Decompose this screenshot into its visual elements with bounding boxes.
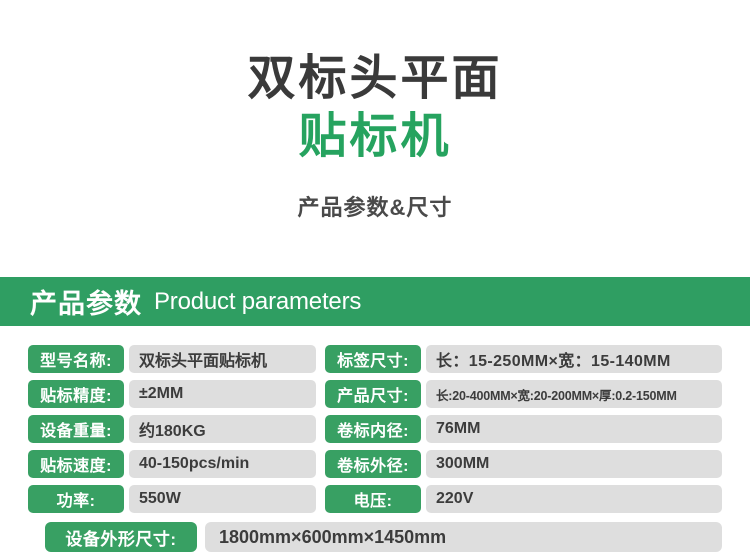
product-title-line-2: 贴标机	[0, 110, 750, 164]
spec-label: 卷标外径:	[325, 450, 421, 478]
table-row: 贴标精度: ±2MM	[28, 380, 316, 408]
spec-label: 贴标精度:	[28, 380, 124, 408]
spec-value: 550W	[129, 485, 316, 513]
spec-label: 功率:	[28, 485, 124, 513]
spec-value: 长:20-400MM×宽:20-200MM×厚:0.2-150MM	[426, 380, 722, 408]
section-banner-product-parameters: 产品参数 Product parameters	[0, 277, 750, 326]
table-row: 贴标速度: 40-150pcs/min	[28, 450, 316, 478]
spec-label: 设备外形尺寸:	[45, 522, 197, 552]
spec-value: 76MM	[426, 415, 722, 443]
spec-value: 220V	[426, 485, 722, 513]
hero-title-block: 双标头平面 贴标机 产品参数&尺寸	[0, 0, 750, 222]
banner-title-en: Product parameters	[154, 288, 361, 316]
table-row: 卷标外径: 300MM	[325, 450, 722, 478]
spec-label: 电压:	[325, 485, 421, 513]
spec-value: 约180KG	[129, 415, 316, 443]
table-row: 功率: 550W	[28, 485, 316, 513]
spec-label: 卷标内径:	[325, 415, 421, 443]
spec-value: 40-150pcs/min	[129, 450, 316, 478]
spec-value: 300MM	[426, 450, 722, 478]
spec-value: 1800mm×600mm×1450mm	[205, 522, 722, 552]
spec-label: 型号名称:	[28, 345, 124, 373]
spec-label: 标签尺寸:	[325, 345, 421, 373]
product-title-line-1: 双标头平面	[0, 52, 750, 106]
table-row: 设备重量: 约180KG	[28, 415, 316, 443]
spec-label: 产品尺寸:	[325, 380, 421, 408]
spec-label: 贴标速度:	[28, 450, 124, 478]
banner-title-cn: 产品参数	[30, 282, 142, 321]
spec-value: 长：15-250MM×宽：15-140MM	[426, 345, 722, 373]
page-subtitle: 产品参数&尺寸	[0, 190, 750, 222]
spec-value: 双标头平面贴标机	[129, 345, 316, 373]
table-row-full-width: 设备外形尺寸: 1800mm×600mm×1450mm	[45, 522, 722, 552]
table-row: 型号名称: 双标头平面贴标机	[28, 345, 316, 373]
table-row: 电压: 220V	[325, 485, 722, 513]
spec-value: ±2MM	[129, 380, 316, 408]
spec-label: 设备重量:	[28, 415, 124, 443]
table-row: 卷标内径: 76MM	[325, 415, 722, 443]
table-row: 产品尺寸: 长:20-400MM×宽:20-200MM×厚:0.2-150MM	[325, 380, 722, 408]
table-row: 标签尺寸: 长：15-250MM×宽：15-140MM	[325, 345, 722, 373]
